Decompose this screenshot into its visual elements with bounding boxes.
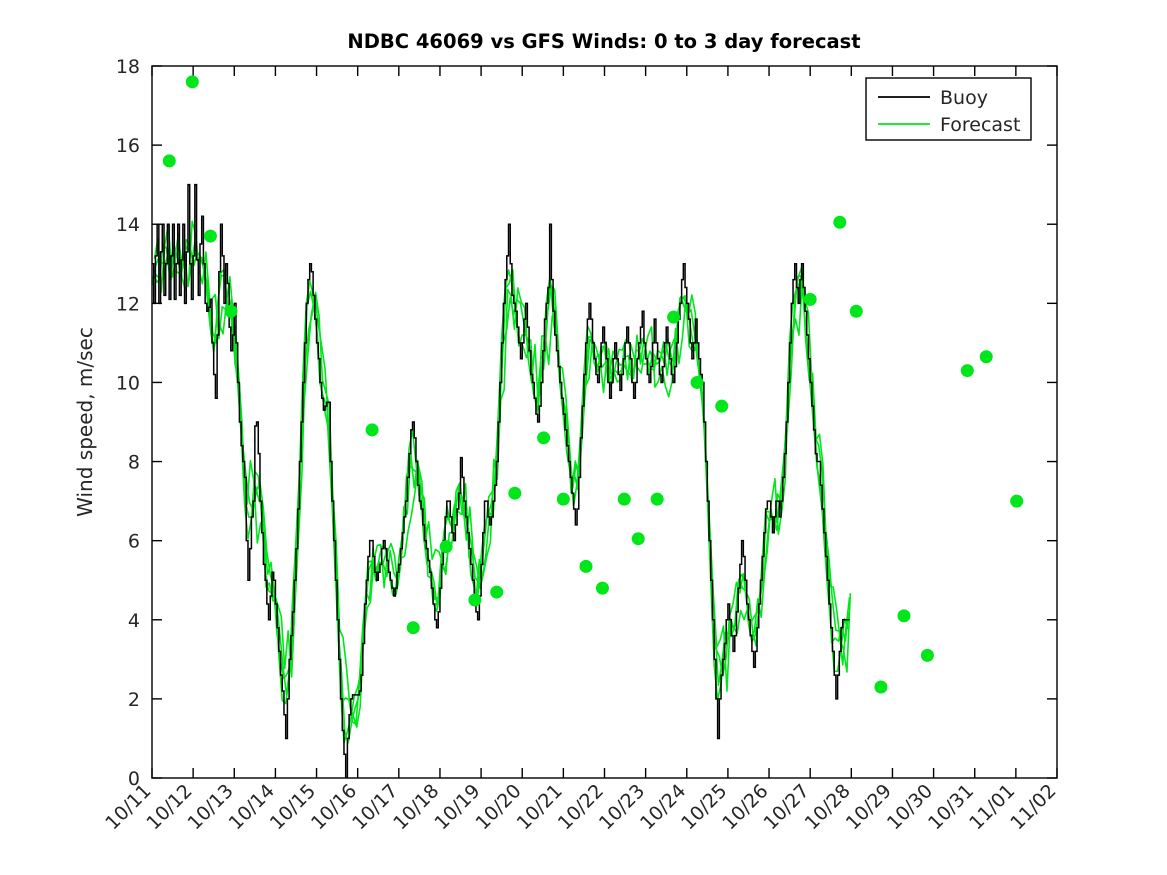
forecast-marker-point (618, 493, 631, 506)
forecast-marker-point (961, 364, 974, 377)
chart-legend: Buoy Forecast (866, 78, 1031, 140)
forecast-marker-point (804, 293, 817, 306)
forecast-marker-point (557, 493, 570, 506)
y-axis-label: Wind speed, m/sec (73, 327, 97, 517)
chart-figure: NDBC 46069 vs GFS Winds: 0 to 3 day fore… (0, 0, 1167, 875)
chart-title: NDBC 46069 vs GFS Winds: 0 to 3 day fore… (347, 30, 860, 53)
forecast-marker-point (632, 532, 645, 545)
forecast-marker-point (224, 305, 237, 318)
forecast-marker-point (874, 681, 887, 694)
forecast-marker-point (537, 431, 550, 444)
forecast-marker-point (407, 621, 420, 634)
y-tick-label: 4 (128, 610, 140, 632)
forecast-marker-point (1010, 495, 1023, 508)
forecast-marker-point (366, 423, 379, 436)
y-tick-label: 6 (128, 531, 140, 553)
forecast-marker-point (508, 487, 521, 500)
forecast-marker-point (186, 75, 199, 88)
forecast-marker-point (163, 154, 176, 167)
forecast-marker-point (897, 609, 910, 622)
forecast-marker-point (980, 350, 993, 363)
y-tick-label: 8 (128, 452, 140, 474)
forecast-marker-point (468, 594, 481, 607)
y-tick-label: 10 (116, 372, 140, 394)
y-tick-label: 2 (128, 689, 140, 711)
y-tick-label: 16 (116, 135, 140, 157)
forecast-marker-point (833, 216, 846, 229)
forecast-marker-point (715, 400, 728, 413)
legend-label-buoy: Buoy (940, 87, 988, 109)
forecast-marker-point (691, 376, 704, 389)
y-tick-label: 18 (116, 56, 140, 78)
forecast-marker-point (921, 649, 934, 662)
forecast-marker-point (204, 230, 217, 243)
forecast-marker-point (651, 493, 664, 506)
forecast-marker-point (579, 560, 592, 573)
y-tick-label: 12 (116, 293, 140, 315)
forecast-marker-point (667, 311, 680, 324)
legend-label-forecast: Forecast (940, 114, 1020, 136)
forecast-marker-point (850, 305, 863, 318)
y-tick-label: 14 (116, 214, 140, 236)
chart-canvas: NDBC 46069 vs GFS Winds: 0 to 3 day fore… (0, 0, 1167, 875)
forecast-marker-point (440, 540, 453, 553)
forecast-marker-point (596, 582, 609, 595)
forecast-marker-point (490, 586, 503, 599)
